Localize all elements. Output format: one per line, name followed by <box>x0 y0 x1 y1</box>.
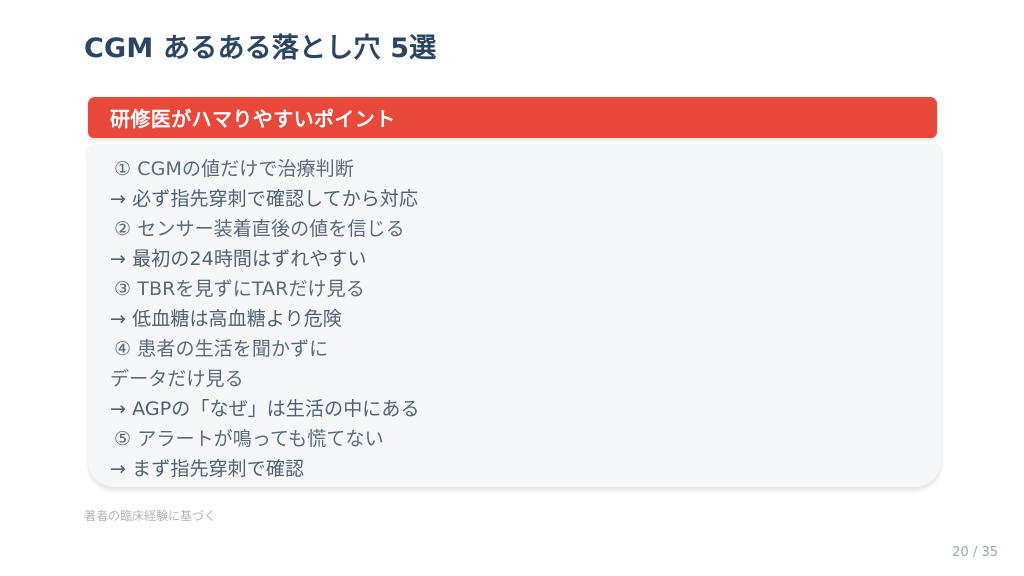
list-item: ② センサー装着直後の値を信じる <box>88 214 941 244</box>
card-body: ① CGMの値だけで治療判断→ 必ず指先穿刺で確認してから対応② センサー装着直… <box>88 144 941 487</box>
list-item: → 低血糖は高血糖より危険 <box>88 304 941 334</box>
footnote: 著者の臨床経験に基づく <box>84 507 216 524</box>
list-item: ④ 患者の生活を聞かずに <box>88 334 941 364</box>
page-number: 20 / 35 <box>952 545 998 560</box>
card-header-label: 研修医がハマりやすいポイント <box>110 103 396 132</box>
list-item: ① CGMの値だけで治療判断 <box>88 154 941 184</box>
list-item: → 最初の24時間はずれやすい <box>88 244 941 274</box>
card-header-bar: 研修医がハマりやすいポイント <box>88 97 937 138</box>
list-item: → まず指先穿刺で確認 <box>88 454 941 484</box>
slide-root: CGM あるある落とし穴 5選 研修医がハマりやすいポイント ① CGMの値だけ… <box>0 0 1024 576</box>
list-item: ③ TBRを見ずにTARだけ見る <box>88 274 941 304</box>
list-item: → 必ず指先穿刺で確認してから対応 <box>88 184 941 214</box>
list-item: ⑤ アラートが鳴っても慌てない <box>88 424 941 454</box>
list-item: データだけ見る <box>88 364 941 394</box>
pitfall-list: ① CGMの値だけで治療判断→ 必ず指先穿刺で確認してから対応② センサー装着直… <box>88 154 941 484</box>
page-title: CGM あるある落とし穴 5選 <box>84 26 436 65</box>
list-item: → AGPの「なぜ」は生活の中にある <box>88 394 941 424</box>
